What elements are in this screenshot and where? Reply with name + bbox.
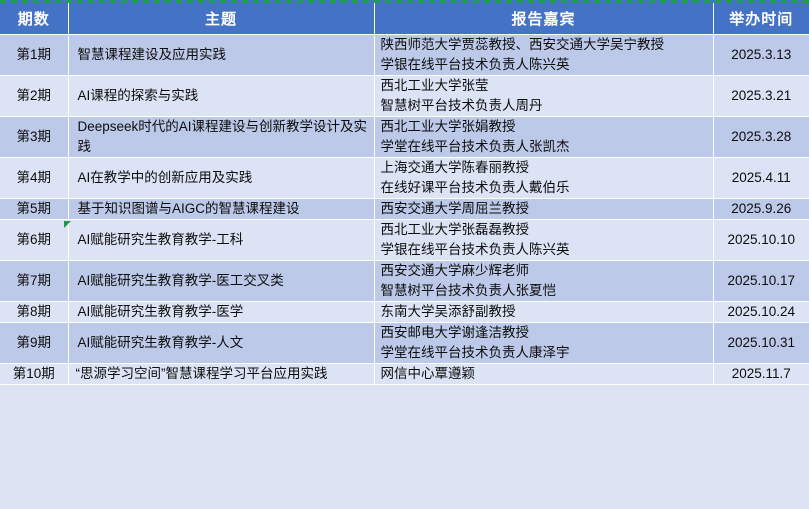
cell-session-number[interactable]: 第6期 xyxy=(0,219,68,260)
cell-topic[interactable]: AI赋能研究生教育教学-工科 xyxy=(68,219,374,260)
cell-date[interactable]: 2025.9.26 xyxy=(713,198,809,219)
column-header-no[interactable]: 期数 xyxy=(0,3,68,34)
cell-session-number[interactable]: 第3期 xyxy=(0,116,68,157)
table-row: 第3期Deepseek时代的AI课程建设与创新教学设计及实践西北工业大学张娟教授… xyxy=(0,116,809,157)
cell-topic[interactable]: AI在教学中的创新应用及实践 xyxy=(68,157,374,198)
cell-topic[interactable]: AI赋能研究生教育教学-医工交叉类 xyxy=(68,260,374,301)
guest-line: 西安邮电大学谢逢洁教授 xyxy=(381,323,709,343)
table-header: 期数 主题 报告嘉宾 举办时间 xyxy=(0,3,809,34)
cell-session-number[interactable]: 第2期 xyxy=(0,75,68,116)
guest-line: 在线好课平台技术负责人戴伯乐 xyxy=(381,178,709,198)
table-header-row: 期数 主题 报告嘉宾 举办时间 xyxy=(0,3,809,34)
guest-line: 西安交通大学麻少辉老师 xyxy=(381,261,709,281)
table-body: 第1期智慧课程建设及应用实践陕西师范大学贾蕊教授、西安交通大学吴宁教授学银在线平… xyxy=(0,34,809,384)
cell-topic[interactable]: 智慧课程建设及应用实践 xyxy=(68,34,374,75)
cell-topic[interactable]: AI赋能研究生教育教学-医学 xyxy=(68,301,374,322)
guest-line: 西北工业大学张磊磊教授 xyxy=(381,220,709,240)
table-row: 第9期AI赋能研究生教育教学-人文西安邮电大学谢逢洁教授学堂在线平台技术负责人康… xyxy=(0,322,809,363)
cell-date[interactable]: 2025.3.21 xyxy=(713,75,809,116)
table-row: 第10期“思源学习空间”智慧课程学习平台应用实践网信中心覃遵颖2025.11.7 xyxy=(0,363,809,384)
guest-line: 东南大学吴添舒副教授 xyxy=(381,302,709,322)
guest-line: 上海交通大学陈春丽教授 xyxy=(381,158,709,178)
cell-session-number[interactable]: 第5期 xyxy=(0,198,68,219)
guest-line: 学堂在线平台技术负责人康泽宇 xyxy=(381,343,709,363)
cell-session-number[interactable]: 第4期 xyxy=(0,157,68,198)
cell-topic[interactable]: AI课程的探索与实践 xyxy=(68,75,374,116)
column-header-date[interactable]: 举办时间 xyxy=(713,3,809,34)
table-row: 第1期智慧课程建设及应用实践陕西师范大学贾蕊教授、西安交通大学吴宁教授学银在线平… xyxy=(0,34,809,75)
cell-date[interactable]: 2025.4.11 xyxy=(713,157,809,198)
cell-topic[interactable]: Deepseek时代的AI课程建设与创新教学设计及实践 xyxy=(68,116,374,157)
schedule-table: 期数 主题 报告嘉宾 举办时间 第1期智慧课程建设及应用实践陕西师范大学贾蕊教授… xyxy=(0,3,809,385)
guest-line: 西安交通大学周屈兰教授 xyxy=(381,199,709,219)
cell-guest[interactable]: 西北工业大学张娟教授学堂在线平台技术负责人张凯杰 xyxy=(374,116,713,157)
cell-guest[interactable]: 西安交通大学麻少辉老师智慧树平台技术负责人张夏恺 xyxy=(374,260,713,301)
table-row: 第7期AI赋能研究生教育教学-医工交叉类西安交通大学麻少辉老师智慧树平台技术负责… xyxy=(0,260,809,301)
guest-line: 学银在线平台技术负责人陈兴英 xyxy=(381,240,709,260)
table-row: 第2期AI课程的探索与实践西北工业大学张莹智慧树平台技术负责人周丹2025.3.… xyxy=(0,75,809,116)
cell-session-number[interactable]: 第8期 xyxy=(0,301,68,322)
cell-date[interactable]: 2025.3.13 xyxy=(713,34,809,75)
cell-guest[interactable]: 西北工业大学张磊磊教授学银在线平台技术负责人陈兴英 xyxy=(374,219,713,260)
cell-topic[interactable]: “思源学习空间”智慧课程学习平台应用实践 xyxy=(68,363,374,384)
cell-session-number[interactable]: 第9期 xyxy=(0,322,68,363)
guest-line: 陕西师范大学贾蕊教授、西安交通大学吴宁教授 xyxy=(381,35,709,55)
cell-session-number[interactable]: 第7期 xyxy=(0,260,68,301)
column-header-topic[interactable]: 主题 xyxy=(68,3,374,34)
cell-date[interactable]: 2025.10.31 xyxy=(713,322,809,363)
cell-guest[interactable]: 陕西师范大学贾蕊教授、西安交通大学吴宁教授学银在线平台技术负责人陈兴英 xyxy=(374,34,713,75)
guest-line: 学堂在线平台技术负责人张凯杰 xyxy=(381,137,709,157)
cell-date[interactable]: 2025.11.7 xyxy=(713,363,809,384)
cell-date[interactable]: 2025.3.28 xyxy=(713,116,809,157)
spreadsheet-canvas: 期数 主题 报告嘉宾 举办时间 第1期智慧课程建设及应用实践陕西师范大学贾蕊教授… xyxy=(0,0,809,509)
guest-line: 西北工业大学张娟教授 xyxy=(381,117,709,137)
cell-topic[interactable]: 基于知识图谱与AIGC的智慧课程建设 xyxy=(68,198,374,219)
table-row: 第5期基于知识图谱与AIGC的智慧课程建设西安交通大学周屈兰教授2025.9.2… xyxy=(0,198,809,219)
guest-line: 西北工业大学张莹 xyxy=(381,76,709,96)
guest-line: 智慧树平台技术负责人张夏恺 xyxy=(381,281,709,301)
table-row: 第4期AI在教学中的创新应用及实践上海交通大学陈春丽教授在线好课平台技术负责人戴… xyxy=(0,157,809,198)
cell-topic[interactable]: AI赋能研究生教育教学-人文 xyxy=(68,322,374,363)
cell-guest[interactable]: 西北工业大学张莹智慧树平台技术负责人周丹 xyxy=(374,75,713,116)
guest-line: 网信中心覃遵颖 xyxy=(381,364,709,384)
cell-date[interactable]: 2025.10.10 xyxy=(713,219,809,260)
cell-guest[interactable]: 西安邮电大学谢逢洁教授学堂在线平台技术负责人康泽宇 xyxy=(374,322,713,363)
cell-session-number[interactable]: 第1期 xyxy=(0,34,68,75)
guest-line: 智慧树平台技术负责人周丹 xyxy=(381,96,709,116)
guest-line: 学银在线平台技术负责人陈兴英 xyxy=(381,55,709,75)
cell-guest[interactable]: 网信中心覃遵颖 xyxy=(374,363,713,384)
selection-fill-handle[interactable] xyxy=(64,221,71,228)
cell-guest[interactable]: 上海交通大学陈春丽教授在线好课平台技术负责人戴伯乐 xyxy=(374,157,713,198)
selection-border-top xyxy=(0,0,809,3)
column-header-guest[interactable]: 报告嘉宾 xyxy=(374,3,713,34)
cell-date[interactable]: 2025.10.24 xyxy=(713,301,809,322)
table-row: 第8期AI赋能研究生教育教学-医学东南大学吴添舒副教授2025.10.24 xyxy=(0,301,809,322)
cell-date[interactable]: 2025.10.17 xyxy=(713,260,809,301)
cell-guest[interactable]: 西安交通大学周屈兰教授 xyxy=(374,198,713,219)
cell-guest[interactable]: 东南大学吴添舒副教授 xyxy=(374,301,713,322)
cell-session-number[interactable]: 第10期 xyxy=(0,363,68,384)
table-row: 第6期AI赋能研究生教育教学-工科西北工业大学张磊磊教授学银在线平台技术负责人陈… xyxy=(0,219,809,260)
